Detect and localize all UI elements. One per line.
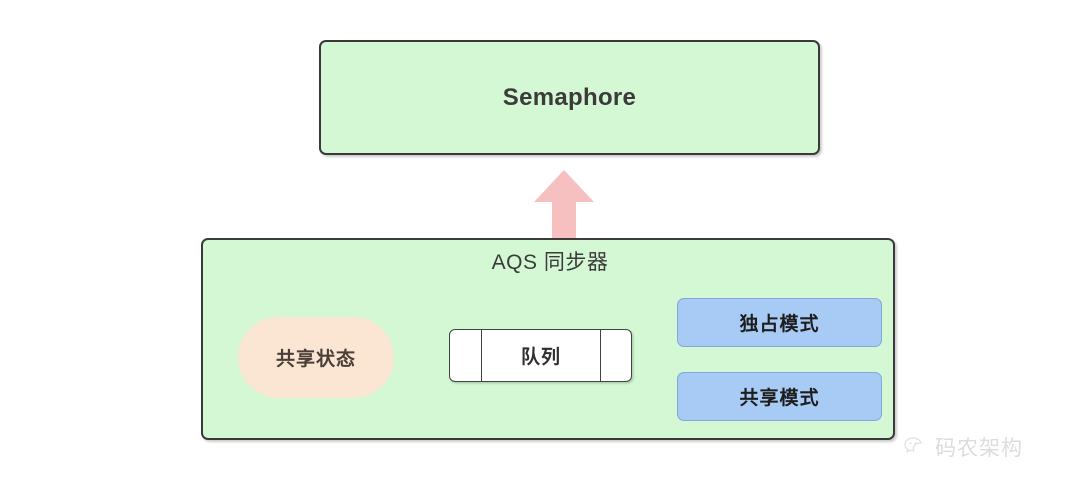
watermark: 码农架构: [903, 432, 1023, 462]
watermark-text: 码农架构: [935, 432, 1023, 462]
diagram-canvas: Semaphore AQS 同步器 共享状态 队列 独占模式 共享模式: [0, 0, 1080, 495]
semaphore-label: Semaphore: [503, 84, 636, 112]
exclusive-mode-box: 独占模式: [677, 298, 882, 347]
queue-label: 队列: [521, 342, 561, 369]
semaphore-box: Semaphore: [319, 40, 820, 155]
queue-box: 队列: [449, 329, 632, 382]
shared-mode-box: 共享模式: [677, 372, 882, 421]
shared-mode-label: 共享模式: [739, 383, 819, 410]
upward-arrow: [533, 168, 595, 240]
aqs-container: AQS 同步器 共享状态 队列 独占模式 共享模式: [201, 238, 895, 440]
shared-state-blob: 共享状态: [238, 317, 394, 398]
queue-cell-right: [601, 330, 631, 381]
queue-cell-middle: 队列: [482, 330, 601, 381]
wechat-icon: [903, 434, 929, 460]
aqs-container-title: AQS 同步器: [203, 246, 897, 276]
queue-cell-left: [450, 330, 482, 381]
shared-state-label: 共享状态: [276, 344, 356, 371]
exclusive-mode-label: 独占模式: [739, 309, 819, 336]
